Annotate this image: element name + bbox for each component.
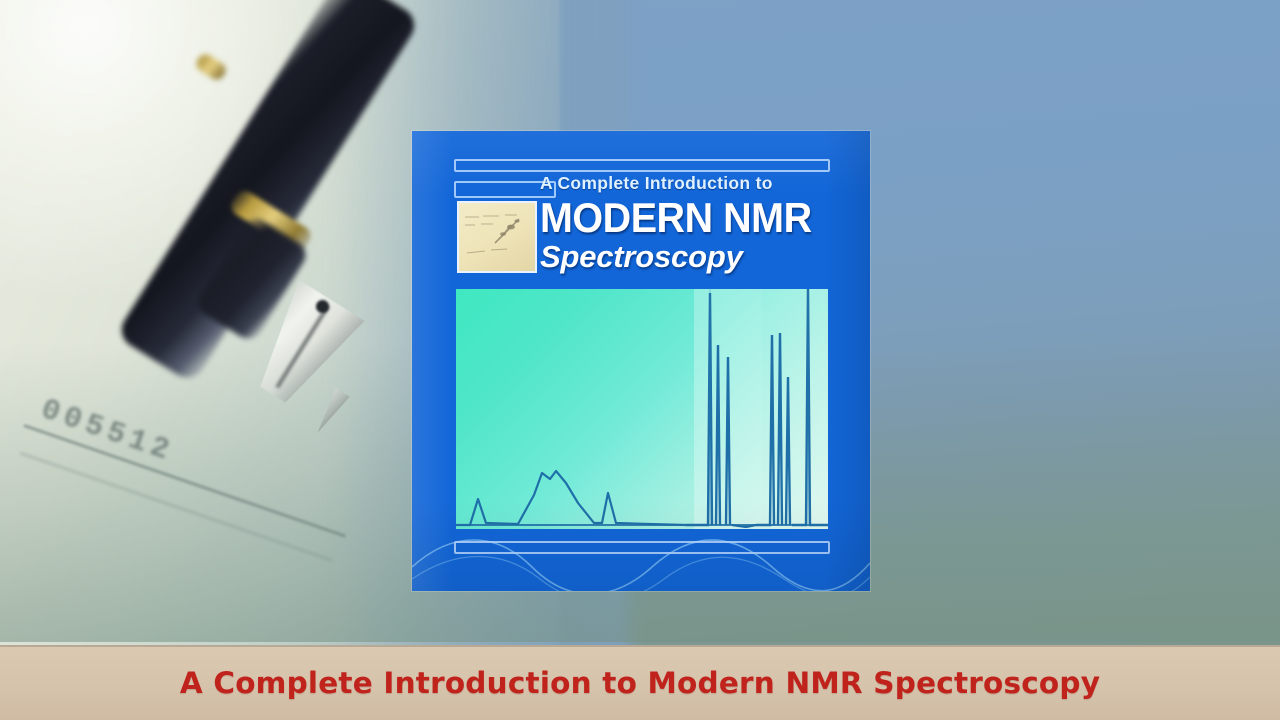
- caption-text: A Complete Introduction to Modern NMR Sp…: [180, 666, 1100, 700]
- cover-subtitle: A Complete Introduction to: [540, 175, 860, 193]
- caption-band: A Complete Introduction to Modern NMR Sp…: [0, 645, 1280, 720]
- nmr-spectrum-panel: Roger S. Macomber: [456, 289, 828, 529]
- cover-decorative-wave: [412, 523, 870, 591]
- caption-band-top-edge: [0, 645, 1280, 647]
- pen-nib-breather-hole: [316, 300, 329, 313]
- nmr-contour-plot-icon: [459, 203, 535, 271]
- screenshot-root: 005512: [0, 0, 1280, 720]
- cover-inset-thumbnail: [457, 201, 537, 273]
- cover-top-rule: [454, 159, 830, 172]
- cover-main-title: MODERN NMR: [540, 197, 841, 239]
- cover-title-secondary: Spectroscopy: [540, 241, 860, 272]
- nmr-spectrum-chart: [456, 289, 828, 529]
- cover-bottom-rule: [454, 541, 830, 554]
- cover-title-block: A Complete Introduction to MODERN NMR Sp…: [540, 175, 860, 272]
- book-cover[interactable]: A Complete Introduction to MODERN NMR Sp…: [412, 131, 870, 591]
